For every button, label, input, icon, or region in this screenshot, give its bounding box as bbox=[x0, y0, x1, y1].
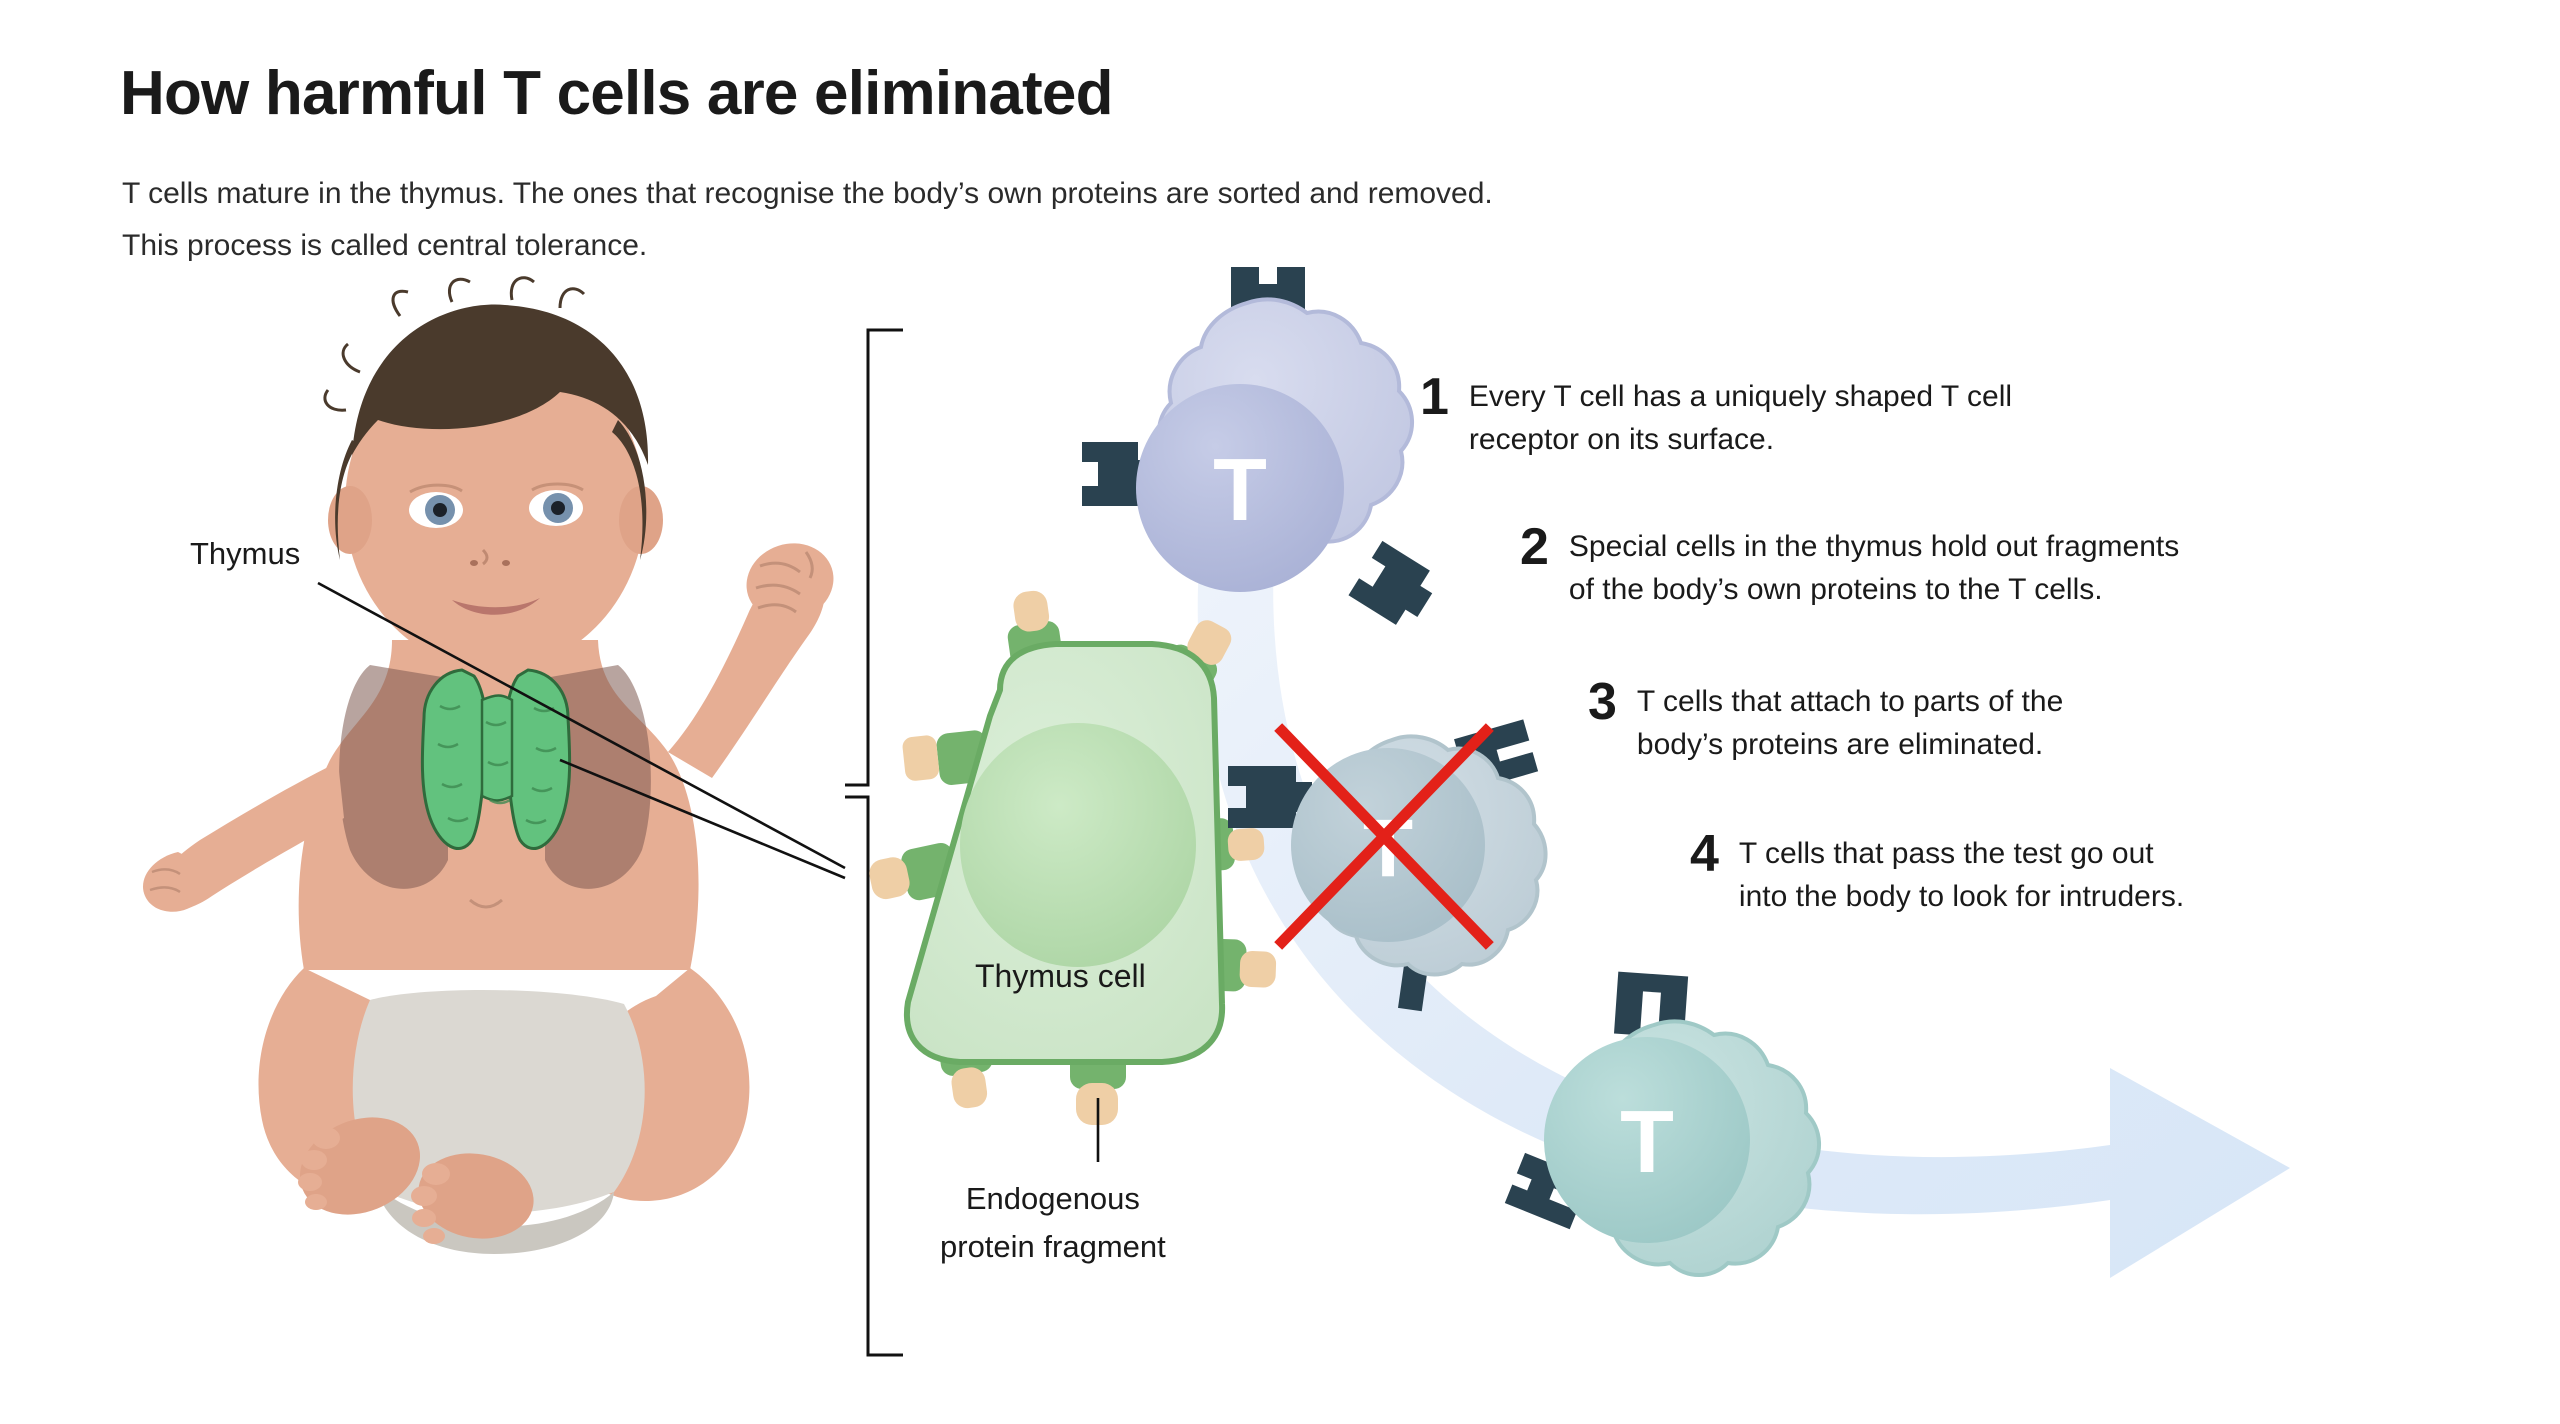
step-item-1: 1 Every T cell has a uniquely shaped T c… bbox=[1420, 375, 2012, 461]
thymus-cell bbox=[866, 588, 1277, 1125]
t-cell-letter: T bbox=[1620, 1092, 1674, 1191]
step-text: Special cells in the thymus hold out fra… bbox=[1569, 525, 2179, 611]
step-item-3: 3 T cells that attach to parts of the bo… bbox=[1588, 680, 2063, 766]
infographic-canvas: T T bbox=[0, 0, 2560, 1424]
baby-illustration bbox=[143, 278, 844, 1254]
step-number: 3 bbox=[1588, 680, 1617, 724]
step-text: Every T cell has a uniquely shaped T cel… bbox=[1469, 375, 2012, 461]
thymus-cell-label: Thymus cell bbox=[975, 958, 1146, 995]
step-text: T cells that attach to parts of the body… bbox=[1637, 680, 2063, 766]
step-text: T cells that pass the test go out into t… bbox=[1739, 832, 2184, 918]
t-cell-letter: T bbox=[1213, 440, 1267, 539]
t-cell-passed: T bbox=[1505, 972, 1819, 1275]
thymus-label: Thymus bbox=[190, 536, 300, 572]
step-item-2: 2 Special cells in the thymus hold out f… bbox=[1520, 525, 2179, 611]
page-subtitle: T cells mature in the thymus. The ones t… bbox=[122, 168, 1493, 272]
step-number: 2 bbox=[1520, 525, 1549, 569]
protein-fragment-label: Endogenous protein fragment bbox=[940, 1175, 1166, 1271]
page-title: How harmful T cells are eliminated bbox=[120, 58, 1113, 129]
scope-bracket bbox=[845, 330, 903, 1355]
t-cell-naive: T bbox=[1082, 267, 1442, 632]
step-number: 1 bbox=[1420, 375, 1449, 419]
step-number: 4 bbox=[1690, 832, 1719, 876]
step-item-4: 4 T cells that pass the test go out into… bbox=[1690, 832, 2184, 918]
